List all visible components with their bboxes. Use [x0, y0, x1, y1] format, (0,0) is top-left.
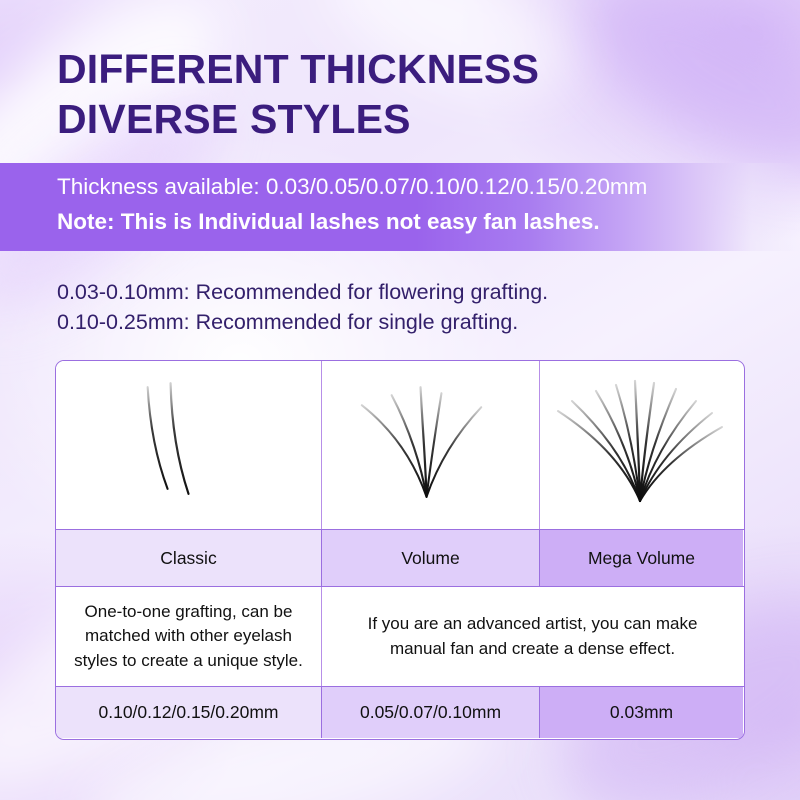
- banner-note-text: Note: This is Individual lashes not easy…: [57, 209, 600, 235]
- table-row-thicknesses: 0.10/0.12/0.15/0.20mm 0.05/0.07/0.10mm 0…: [56, 686, 744, 738]
- recommendation-line-2: 0.10-0.25mm: Recommended for single graf…: [57, 307, 548, 337]
- table-row-descriptions: One-to-one grafting, can be matched with…: [56, 586, 744, 686]
- recommendation-block: 0.03-0.10mm: Recommended for flowering g…: [57, 277, 548, 338]
- page-title-line-2: DIVERSE STYLES: [57, 94, 757, 144]
- page-title: DIFFERENT THICKNESS DIVERSE STYLES: [57, 44, 757, 144]
- thickness-available-text: Thickness available: 0.03/0.05/0.07/0.10…: [57, 174, 647, 200]
- infographic-page: DIFFERENT THICKNESS DIVERSE STYLES Thick…: [0, 0, 800, 800]
- label-mega-volume: Mega Volume: [540, 530, 743, 586]
- label-classic: Classic: [56, 530, 322, 586]
- lash-styles-table: Classic Volume Mega Volume One-to-one gr…: [55, 360, 745, 740]
- mega-volume-fan-illustration: [540, 361, 743, 529]
- description-volume-mega: If you are an advanced artist, you can m…: [322, 587, 743, 686]
- thickness-mega-volume: 0.03mm: [540, 687, 743, 738]
- thickness-banner: Thickness available: 0.03/0.05/0.07/0.10…: [0, 163, 800, 251]
- page-title-line-1: DIFFERENT THICKNESS: [57, 44, 757, 94]
- classic-lash-illustration: [56, 361, 322, 529]
- recommendation-line-1: 0.03-0.10mm: Recommended for flowering g…: [57, 277, 548, 307]
- volume-fan-illustration: [322, 361, 540, 529]
- table-row-illustrations: [56, 361, 744, 529]
- thickness-classic: 0.10/0.12/0.15/0.20mm: [56, 687, 322, 738]
- label-volume: Volume: [322, 530, 540, 586]
- table-row-labels: Classic Volume Mega Volume: [56, 529, 744, 586]
- thickness-volume: 0.05/0.07/0.10mm: [322, 687, 540, 738]
- description-classic: One-to-one grafting, can be matched with…: [56, 587, 322, 686]
